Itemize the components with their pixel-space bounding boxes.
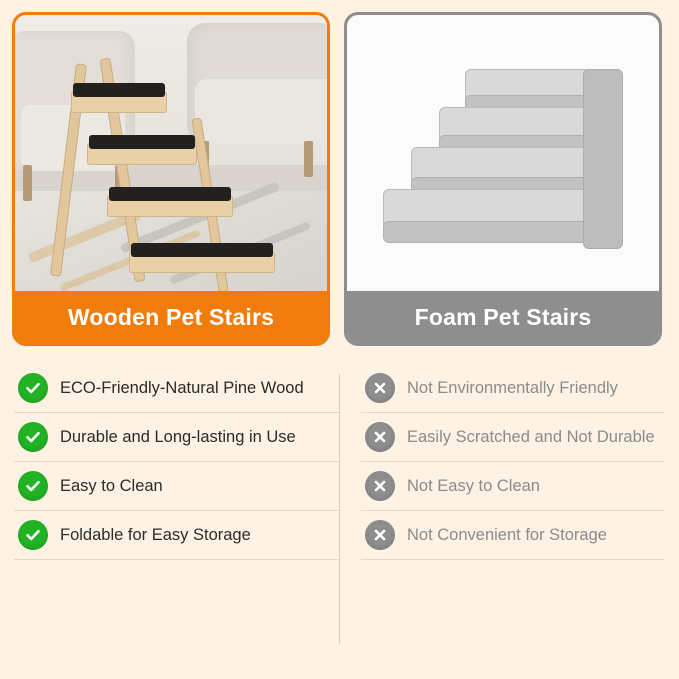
list-item: Not Convenient for Storage bbox=[361, 511, 664, 560]
wooden-pet-stairs-photo bbox=[15, 15, 327, 291]
cross-icon bbox=[365, 422, 395, 452]
wooden-stairs bbox=[55, 57, 295, 287]
list-item: Durable and Long-lasting in Use bbox=[14, 413, 339, 462]
list-item: Easily Scratched and Not Durable bbox=[361, 413, 664, 462]
check-icon bbox=[18, 520, 48, 550]
check-icon bbox=[18, 373, 48, 403]
feature-label: Foldable for Easy Storage bbox=[60, 525, 251, 546]
stairs-tread bbox=[89, 135, 195, 149]
list-item: Not Easy to Clean bbox=[361, 462, 664, 511]
sofa-leg bbox=[304, 141, 313, 177]
vertical-divider bbox=[339, 374, 340, 644]
comparison-infographic: Wooden Pet Stairs Foam Pet Stair bbox=[0, 0, 679, 679]
feature-label: ECO-Friendly-Natural Pine Wood bbox=[60, 378, 304, 399]
armchair-leg bbox=[23, 165, 32, 201]
feature-label: Not Convenient for Storage bbox=[407, 525, 607, 546]
foam-feature-list: Not Environmentally Friendly Easily Scra… bbox=[339, 364, 664, 560]
foam-pet-stairs-photo bbox=[347, 15, 659, 291]
wooden-feature-list: ECO-Friendly-Natural Pine Wood Durable a… bbox=[14, 364, 339, 560]
list-item: Foldable for Easy Storage bbox=[14, 511, 339, 560]
foam-side-panel bbox=[583, 69, 623, 249]
list-item: Easy to Clean bbox=[14, 462, 339, 511]
feature-label: Easy to Clean bbox=[60, 476, 163, 497]
foam-step-4-front bbox=[383, 221, 617, 243]
foam-pet-stairs-card: Foam Pet Stairs bbox=[344, 12, 662, 346]
feature-label: Easily Scratched and Not Durable bbox=[407, 427, 655, 448]
feature-label: Not Easy to Clean bbox=[407, 476, 540, 497]
stairs-tread bbox=[131, 243, 273, 257]
list-item: Not Environmentally Friendly bbox=[361, 364, 664, 413]
cross-icon bbox=[365, 471, 395, 501]
foam-stairs-scene bbox=[347, 15, 659, 291]
cross-icon bbox=[365, 520, 395, 550]
stairs-tread bbox=[73, 83, 165, 97]
list-item: ECO-Friendly-Natural Pine Wood bbox=[14, 364, 339, 413]
product-cards: Wooden Pet Stairs Foam Pet Stair bbox=[0, 0, 679, 346]
feature-label: Durable and Long-lasting in Use bbox=[60, 427, 296, 448]
wooden-pet-stairs-card: Wooden Pet Stairs bbox=[12, 12, 330, 346]
stairs-tread bbox=[109, 187, 231, 201]
cross-icon bbox=[365, 373, 395, 403]
living-room-scene bbox=[15, 15, 327, 291]
check-icon bbox=[18, 471, 48, 501]
wooden-pet-stairs-caption: Wooden Pet Stairs bbox=[15, 291, 327, 343]
check-icon bbox=[18, 422, 48, 452]
foam-pet-stairs-caption: Foam Pet Stairs bbox=[347, 291, 659, 343]
feature-comparison-lists: ECO-Friendly-Natural Pine Wood Durable a… bbox=[0, 364, 679, 560]
feature-label: Not Environmentally Friendly bbox=[407, 378, 618, 399]
